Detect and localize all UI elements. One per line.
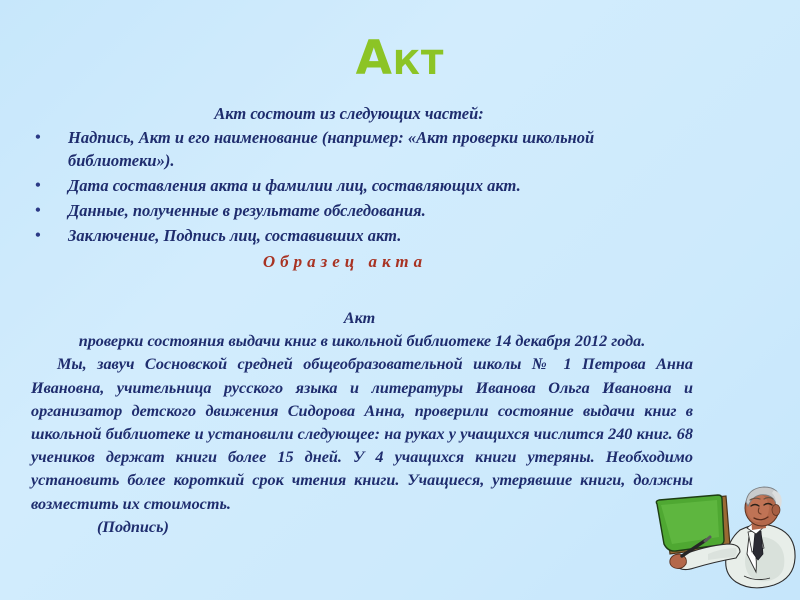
document-signature: (Подпись) [31, 516, 693, 539]
document-subtitle: проверки состояния выдачи книг в школьно… [31, 330, 693, 353]
bullet-icon: • [35, 199, 41, 222]
list-item: • Надпись, Акт и его наименование (напри… [18, 126, 686, 172]
bullet-icon: • [35, 224, 41, 247]
slide-canvas: Акт Акт состоит из следующих частей: • Н… [0, 0, 800, 600]
clipart-svg [648, 484, 800, 600]
list-item: • Данные, полученные в результате обслед… [18, 199, 686, 222]
document-title: Акт [31, 307, 693, 330]
bullet-icon: • [35, 126, 41, 149]
intro-lead-text: Акт состоит из следующих частей: [18, 103, 686, 125]
sample-heading: Образец акта [0, 250, 800, 274]
document-body: Акт проверки состояния выдачи книг в шко… [31, 307, 693, 539]
list-item-label: Дата составления акта и фамилии лиц, сос… [68, 176, 521, 195]
list-item-label: Надпись, Акт и его наименование (наприме… [68, 128, 594, 170]
intro-block: Акт состоит из следующих частей: • Надпи… [18, 103, 686, 249]
list-item-label: Данные, полученные в результате обследов… [68, 201, 426, 220]
man-with-green-clipboard-illustration [648, 484, 800, 600]
list-item: • Заключение, Подпись лиц, составивших а… [18, 224, 686, 247]
list-item-label: Заключение, Подпись лиц, составивших акт… [68, 226, 401, 245]
document-paragraph: Мы, завуч Сосновской средней общеобразов… [31, 353, 693, 515]
parts-list: • Надпись, Акт и его наименование (напри… [18, 126, 686, 247]
bullet-icon: • [35, 174, 41, 197]
list-item: • Дата составления акта и фамилии лиц, с… [18, 174, 686, 197]
page-title: Акт [0, 33, 800, 85]
